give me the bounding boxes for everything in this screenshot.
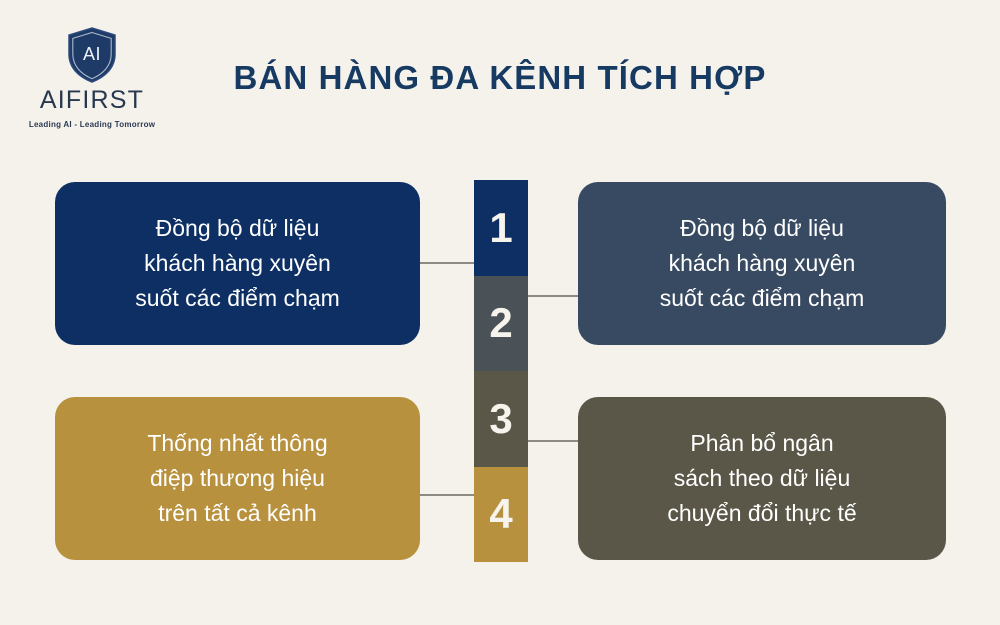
step-card-2-line-3: suốt các điểm chạm bbox=[660, 281, 865, 316]
step-card-4-line-3: chuyển đổi thực tế bbox=[667, 496, 856, 531]
step-card-3-line-3: trên tất cả kênh bbox=[147, 496, 327, 531]
step-card-2[interactable]: Đồng bộ dữ liệu khách hàng xuyên suốt cá… bbox=[578, 182, 946, 345]
step-number-4[interactable]: 4 bbox=[474, 467, 528, 563]
step-card-1-line-2: khách hàng xuyên bbox=[135, 246, 340, 281]
step-card-2-line-2: khách hàng xuyên bbox=[660, 246, 865, 281]
connector-line-4 bbox=[415, 494, 477, 496]
connector-line-2 bbox=[525, 295, 583, 297]
step-card-3-line-2: điệp thương hiệu bbox=[147, 461, 327, 496]
step-card-4-line-1: Phân bổ ngân bbox=[667, 426, 856, 461]
step-card-1[interactable]: Đồng bộ dữ liệu khách hàng xuyên suốt cá… bbox=[55, 182, 420, 345]
process-diagram: Đồng bộ dữ liệu khách hàng xuyên suốt cá… bbox=[0, 0, 1000, 625]
step-number-3[interactable]: 3 bbox=[474, 371, 528, 467]
step-number-column: 1 2 3 4 bbox=[474, 180, 528, 562]
step-card-3[interactable]: Thống nhất thông điệp thương hiệu trên t… bbox=[55, 397, 420, 560]
step-card-3-line-1: Thống nhất thông bbox=[147, 426, 327, 461]
step-card-4[interactable]: Phân bổ ngân sách theo dữ liệu chuyển đổ… bbox=[578, 397, 946, 560]
step-number-2[interactable]: 2 bbox=[474, 276, 528, 372]
connector-line-1 bbox=[415, 262, 477, 264]
step-card-2-line-1: Đồng bộ dữ liệu bbox=[660, 211, 865, 246]
connector-line-3 bbox=[525, 440, 583, 442]
step-number-1[interactable]: 1 bbox=[474, 180, 528, 276]
step-card-4-line-2: sách theo dữ liệu bbox=[667, 461, 856, 496]
step-card-1-line-1: Đồng bộ dữ liệu bbox=[135, 211, 340, 246]
step-card-1-line-3: suốt các điểm chạm bbox=[135, 281, 340, 316]
